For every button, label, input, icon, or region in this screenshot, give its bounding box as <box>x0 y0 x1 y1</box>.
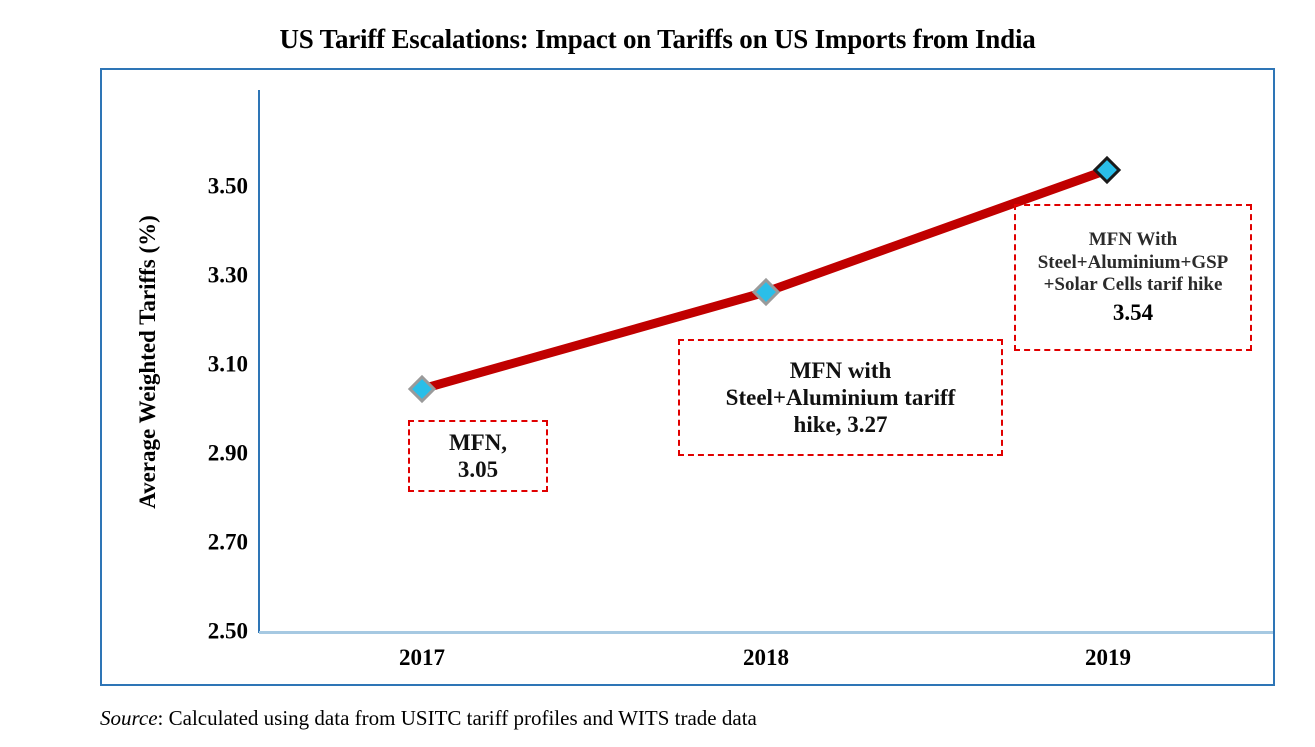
annotation-line: MFN, <box>449 429 507 456</box>
chart-root: US Tariff Escalations: Impact on Tariffs… <box>0 0 1315 747</box>
annotation-line: MFN With <box>1089 229 1178 251</box>
y-tick-label-250: 2.50 <box>168 620 248 643</box>
annotation-callout-steel-aluminium: MFN with Steel+Aluminium tariff hike, 3.… <box>678 339 1003 456</box>
y-axis-line <box>258 90 260 633</box>
x-tick-label-2019: 2019 <box>1038 645 1178 671</box>
source-note: Source: Calculated using data from USITC… <box>100 706 757 731</box>
annotation-line: 3.05 <box>458 456 498 483</box>
annotation-line: +Solar Cells tarif hike <box>1044 274 1223 296</box>
source-label: Source <box>100 706 158 730</box>
y-tick-label-290: 2.90 <box>168 442 248 465</box>
x-tick-label-2017: 2017 <box>352 645 492 671</box>
x-axis-line <box>259 631 1273 634</box>
annotation-line: Steel+Aluminium+GSP <box>1038 252 1229 274</box>
y-tick-label-270: 2.70 <box>168 531 248 554</box>
y-axis-tick-labels: 3.50 3.30 3.10 2.90 2.70 2.50 <box>168 0 248 747</box>
y-tick-label-350: 3.50 <box>168 175 248 198</box>
annotation-callout-gsp-solar: MFN With Steel+Aluminium+GSP +Solar Cell… <box>1014 204 1252 351</box>
annotation-line: hike, 3.27 <box>794 411 888 438</box>
y-axis-title: Average Weighted Tariffs (%) <box>135 152 161 572</box>
y-tick-label-310: 3.10 <box>168 353 248 376</box>
x-tick-label-2018: 2018 <box>696 645 836 671</box>
annotation-line: Steel+Aluminium tariff <box>726 384 956 411</box>
annotation-line: MFN with <box>790 357 892 384</box>
source-text: : Calculated using data from USITC tarif… <box>158 706 757 730</box>
y-tick-label-330: 3.30 <box>168 264 248 287</box>
annotation-value: 3.54 <box>1113 299 1153 326</box>
annotation-callout-mfn: MFN, 3.05 <box>408 420 548 492</box>
